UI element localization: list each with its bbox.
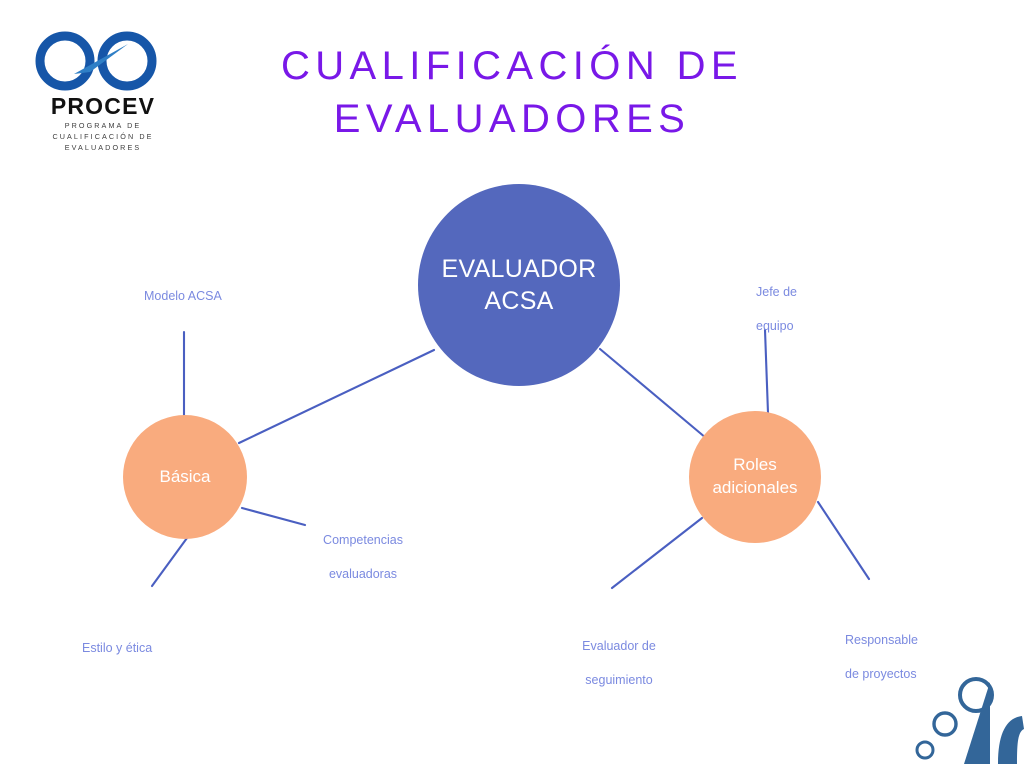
leaf-label-line-1: Jefe de [756,285,797,299]
swoosh-shape-2 [998,716,1024,764]
slide-canvas: PROCEV PROGRAMA DE CUALIFICACIÓN DE EVAL… [0,0,1024,768]
node-label-line-1: EVALUADOR [435,253,602,286]
node-evaluador-acsa[interactable]: EVALUADOR ACSA [418,184,620,386]
leaf-label-line-1: Modelo ACSA [144,289,222,303]
leaf-label-line-2: evaluadoras [329,567,397,581]
connector-basica-to-estilo [152,538,187,586]
leaf-label-line-1: Responsable [845,633,918,647]
node-label-line-2: adicionales [706,477,803,500]
leaf-label-line-1: Evaluador de [582,639,656,653]
decoration-circle-3 [917,742,933,758]
leaf-label-line-1: Estilo y ética [82,641,152,655]
leaf-label-line-2: equipo [756,319,794,333]
node-label-line-1: Roles [706,454,803,477]
node-label: Roles adicionales [706,454,803,500]
corner-decoration-graphic [914,672,1024,768]
connector-roles-to-jefe [765,330,768,413]
node-label: Básica [153,466,216,488]
swoosh-shape-1 [964,682,990,764]
node-basica[interactable]: Básica [123,415,247,539]
connector-hub-to-basica [239,350,434,443]
leaf-label-jefe-de-equipo[interactable]: Jefe de equipo [756,267,866,335]
leaf-label-modelo-acsa[interactable]: Modelo ACSA [144,271,304,305]
leaf-label-line-2: seguimiento [585,673,652,687]
leaf-label-evaluador-de-seguimiento[interactable]: Evaluador de seguimiento [554,621,684,689]
connector-roles-to-responsable [818,502,869,579]
leaf-label-line-2: de proyectos [845,667,917,681]
leaf-label-competencias-evaluadoras[interactable]: Competencias evaluadoras [298,515,428,583]
connector-hub-to-roles [600,349,706,438]
connector-basica-to-competencias [242,508,305,525]
leaf-label-line-1: Competencias [323,533,403,547]
node-roles-adicionales[interactable]: Roles adicionales [689,411,821,543]
node-label-line-2: ACSA [435,285,602,318]
leaf-label-estilo-y-etica[interactable]: Estilo y ética [82,623,242,657]
node-label-line-1: Básica [153,466,216,488]
connector-roles-to-seguimiento [612,518,702,588]
node-label: EVALUADOR ACSA [435,253,602,318]
decoration-circle-2 [934,713,956,735]
